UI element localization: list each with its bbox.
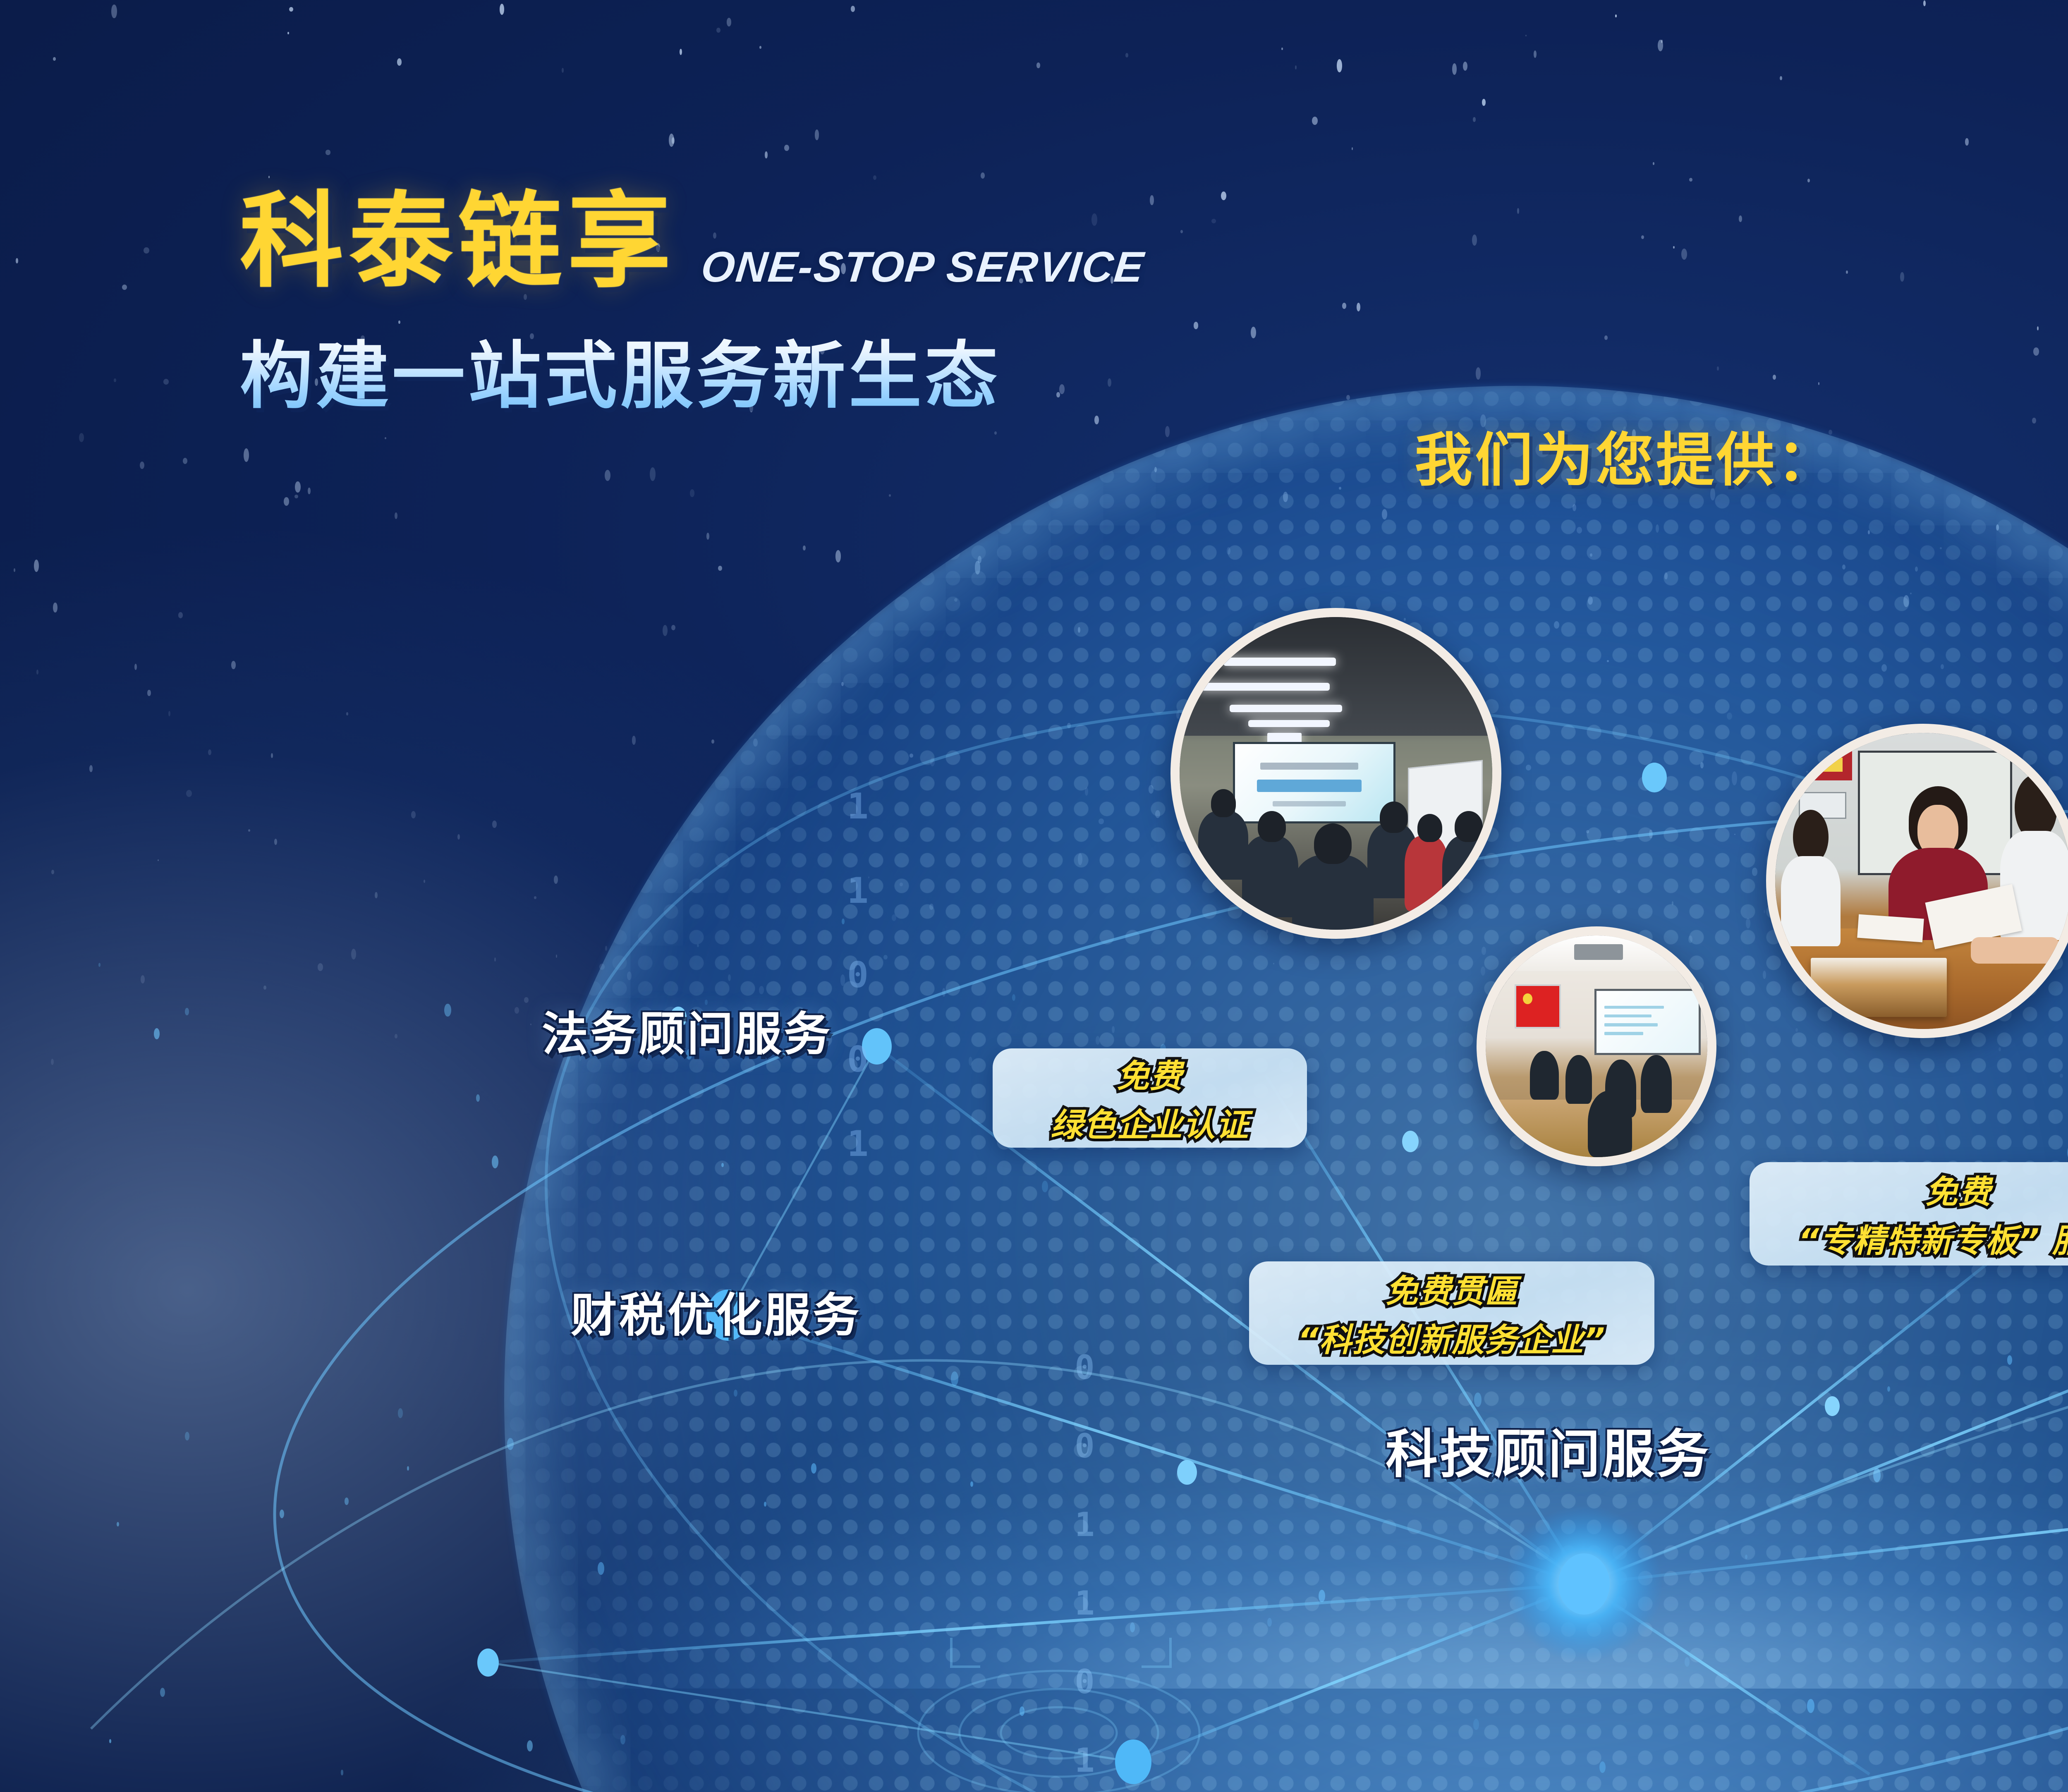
star [1672,901,1673,905]
star [134,664,137,670]
star [910,754,913,758]
star [51,870,54,874]
star [672,137,675,144]
star-accent [1685,1657,1690,1667]
star [2032,418,2036,424]
star [1661,40,1663,43]
star [168,711,170,716]
star-accent [811,1463,816,1473]
star [1617,890,1620,893]
star [375,892,377,898]
star [663,625,668,636]
star [248,829,250,832]
service-label-legal-advisory[interactable]: 法务顾问服务 [542,997,832,1064]
star-accent [620,1735,625,1744]
star [244,448,249,462]
star [1517,208,1520,214]
star [599,964,605,970]
star [627,971,632,980]
star-accent [734,1390,737,1397]
star [397,58,402,66]
star [1673,246,1674,249]
star [1155,810,1160,818]
star [1283,492,1288,502]
star [53,57,56,60]
star [147,690,151,696]
star [1099,818,1104,824]
star-accent [1807,1699,1814,1713]
star-accent [492,1156,498,1168]
star [1463,62,1467,71]
star [1604,335,1608,340]
star [1112,1026,1115,1033]
title-row: 科泰链享 ONE-STOP SERVICE [240,157,1481,307]
star [605,470,610,481]
star [231,661,236,669]
star [51,1059,54,1065]
star [424,880,425,883]
star-accent [476,1094,480,1102]
star [208,749,211,755]
star [1586,830,1589,833]
star [1940,547,1942,549]
photo-meeting-room [1477,926,1716,1166]
star [411,811,416,819]
star [1554,621,1559,629]
star [385,437,386,439]
star [16,258,18,263]
badge-green-enterprise[interactable]: 免费 绿色企业认证 [993,1048,1307,1148]
star [318,963,323,971]
star [1481,967,1485,976]
badge-specialized-line2: “专精特新专板” 服务 [1798,1215,2068,1261]
star-accent [1745,1555,1747,1560]
star [1681,249,1687,260]
star [1649,830,1652,838]
badge-specialized-new-board[interactable]: 免费 “专精特新专板” 服务 [1750,1162,2068,1266]
star [784,145,789,151]
headline-block: 科泰链享 ONE-STOP SERVICE 构建一站式服务新生态 [240,157,1481,422]
star [492,821,497,828]
provide-heading: 我们为您提供： [1415,414,1837,497]
star [53,603,57,612]
photo-seminar-hall-content [1180,617,1492,930]
star [1266,930,1268,933]
star [697,944,699,947]
star-accent [398,1408,403,1418]
star [1923,0,1926,6]
star [632,736,636,745]
star [841,682,843,686]
star [271,753,273,758]
star [1773,375,1776,380]
photo-document-review-content [1775,733,2068,1029]
star [1846,270,1848,274]
star [140,462,144,469]
star [500,4,505,15]
star [1525,35,1527,36]
star [994,431,997,434]
star [2060,1074,2063,1078]
binary-column-left: 1 1 0 0 1 [720,786,995,1181]
brand-title-en: ONE-STOP SERVICE [697,243,1147,307]
star-accent [444,1004,451,1017]
star-accent [1473,1719,1479,1730]
star [263,986,266,990]
star [1780,76,1782,80]
star [530,1024,531,1025]
star [562,68,564,72]
star [727,18,732,26]
star [1727,713,1732,720]
star [1915,567,1918,572]
star-accent [1042,1181,1048,1192]
badge-green-enterprise-line1: 免费 [1117,1050,1183,1097]
star [753,739,757,746]
star [2033,709,2034,711]
star [835,550,841,562]
brand-title-cn: 科泰链享 [240,157,677,307]
star [326,150,330,155]
star [1658,40,1663,51]
badge-tech-innovation-line1: 免费贯匾 [1386,1266,1518,1312]
service-label-tech-advisory[interactable]: 科技顾问服务 [1386,1412,1711,1488]
star [284,497,289,505]
star [554,876,558,884]
star [1689,178,1692,182]
star [1573,504,1576,511]
star [1739,215,1742,222]
badge-specialized-line1: 免费 [1925,1166,1991,1213]
star-accent [1887,1386,1890,1392]
star [1473,117,1476,122]
star [395,512,397,519]
star [1818,382,1819,385]
star [158,859,159,861]
star [141,975,145,983]
star [1295,65,1297,69]
star [114,378,116,382]
star [954,598,957,602]
star [346,712,348,715]
star [930,758,935,766]
star [716,28,720,33]
badge-tech-innovation-line2: “科技创新服务企业” [1298,1314,1606,1361]
star [1590,553,1592,557]
star [1036,62,1040,68]
star [1734,834,1735,835]
star [889,494,891,496]
star [1764,910,1765,913]
star [1903,595,1909,607]
star [178,612,183,618]
star [287,32,289,34]
star-accent [1599,1761,1606,1773]
star [111,5,117,18]
star [274,839,277,845]
star [14,568,15,572]
star-accent [527,1740,533,1751]
star [1273,963,1274,964]
star [1149,785,1154,793]
star-accent [117,1522,119,1527]
star [1996,524,1999,531]
star [183,458,187,464]
star [711,739,714,744]
star [1312,117,1318,125]
star [1965,138,1968,145]
star [1526,765,1531,770]
star [669,134,674,147]
star [1534,50,1537,58]
photo-seminar-hall [1170,608,1501,939]
star [1577,527,1582,534]
star [351,949,356,959]
star-accent [109,1739,111,1743]
star [1165,426,1170,437]
star-accent [764,1502,767,1507]
star [1653,162,1654,165]
star [1656,524,1659,532]
star-accent [1873,1468,1881,1482]
star [524,997,529,1003]
star [2037,326,2039,330]
star [690,489,695,497]
star-accent [160,1688,165,1697]
star [1607,660,1609,662]
star [1900,272,1904,282]
star-accent [98,963,101,967]
star-accent [341,1770,344,1775]
star [534,896,536,899]
star [1999,1047,2001,1051]
star [1125,53,1129,57]
star [1615,14,1616,17]
star [1339,487,1341,490]
star [1717,366,1719,371]
star [803,545,806,550]
star [1746,918,1750,928]
star [1732,771,1737,785]
star [1085,787,1088,796]
star [1382,509,1387,519]
star [36,670,38,675]
star [163,379,169,385]
star-accent [1267,1618,1272,1627]
star [671,625,675,630]
star [294,495,298,498]
star [289,7,293,12]
star-accent [598,1562,604,1574]
star [978,556,982,563]
star [1641,235,1644,239]
star [34,560,39,572]
star [1200,1010,1202,1014]
star [1281,48,1283,50]
star-accent [185,1432,189,1441]
star-accent [280,1510,284,1518]
star [1482,99,1486,105]
star [680,49,682,55]
star [1452,63,1457,75]
star-accent [154,1028,160,1039]
star-accent [345,1498,348,1505]
star [706,533,709,540]
star-accent [185,1008,189,1015]
star [759,46,761,49]
star [308,488,310,494]
star [186,790,192,797]
star [1868,530,1870,534]
star-accent [2007,1355,2012,1365]
star [1763,971,1766,979]
star [1842,565,1845,569]
badge-green-enterprise-line2: 绿色企业认证 [1051,1099,1249,1146]
star [494,957,496,962]
star [556,955,558,958]
star [79,433,84,442]
star-accent [1474,1392,1482,1407]
star [1881,664,1887,672]
brand-subtitle-cn: 构建一站式服务新生态 [240,317,1481,422]
star [851,6,855,12]
star [457,834,460,840]
star-accent [407,1466,409,1471]
star [718,566,722,571]
star [1337,59,1342,72]
star [1700,762,1704,768]
star [1078,627,1080,633]
star [1154,467,1157,472]
star [295,481,300,493]
star [515,1007,519,1014]
star [1067,723,1071,728]
star [1352,147,1353,150]
star [1588,596,1592,605]
star [1910,593,1912,594]
star-accent [1319,1590,1325,1602]
star [1752,868,1757,876]
star [144,247,149,254]
service-label-fiscal-tax[interactable]: 财税优化服务 [571,1278,861,1345]
star [815,129,819,140]
star [2033,347,2039,356]
star [975,561,981,574]
star [1941,664,1944,669]
star [122,285,127,290]
photo-document-review [1766,724,2068,1038]
star [1664,572,1668,579]
badge-tech-innovation-plaque[interactable]: 免费贯匾 “科技创新服务企业” [1249,1261,1654,1365]
photo-meeting-room-content [1486,935,1707,1157]
star [1096,1036,1100,1045]
star [1807,179,1810,182]
star [605,946,607,951]
star [1227,547,1231,555]
star [395,1034,398,1038]
star [650,467,655,481]
star [1078,853,1082,865]
banner-stage: 1 1 0 0 1 0 0 1 1 0 1 1 1 0 0 1 1 1 1 0 … [0,0,2068,1792]
star-accent [507,1438,514,1450]
binary-column-mid-left: 0 0 1 1 0 1 [931,1348,1238,1792]
star-accent [1012,994,1015,1000]
star [89,765,93,772]
